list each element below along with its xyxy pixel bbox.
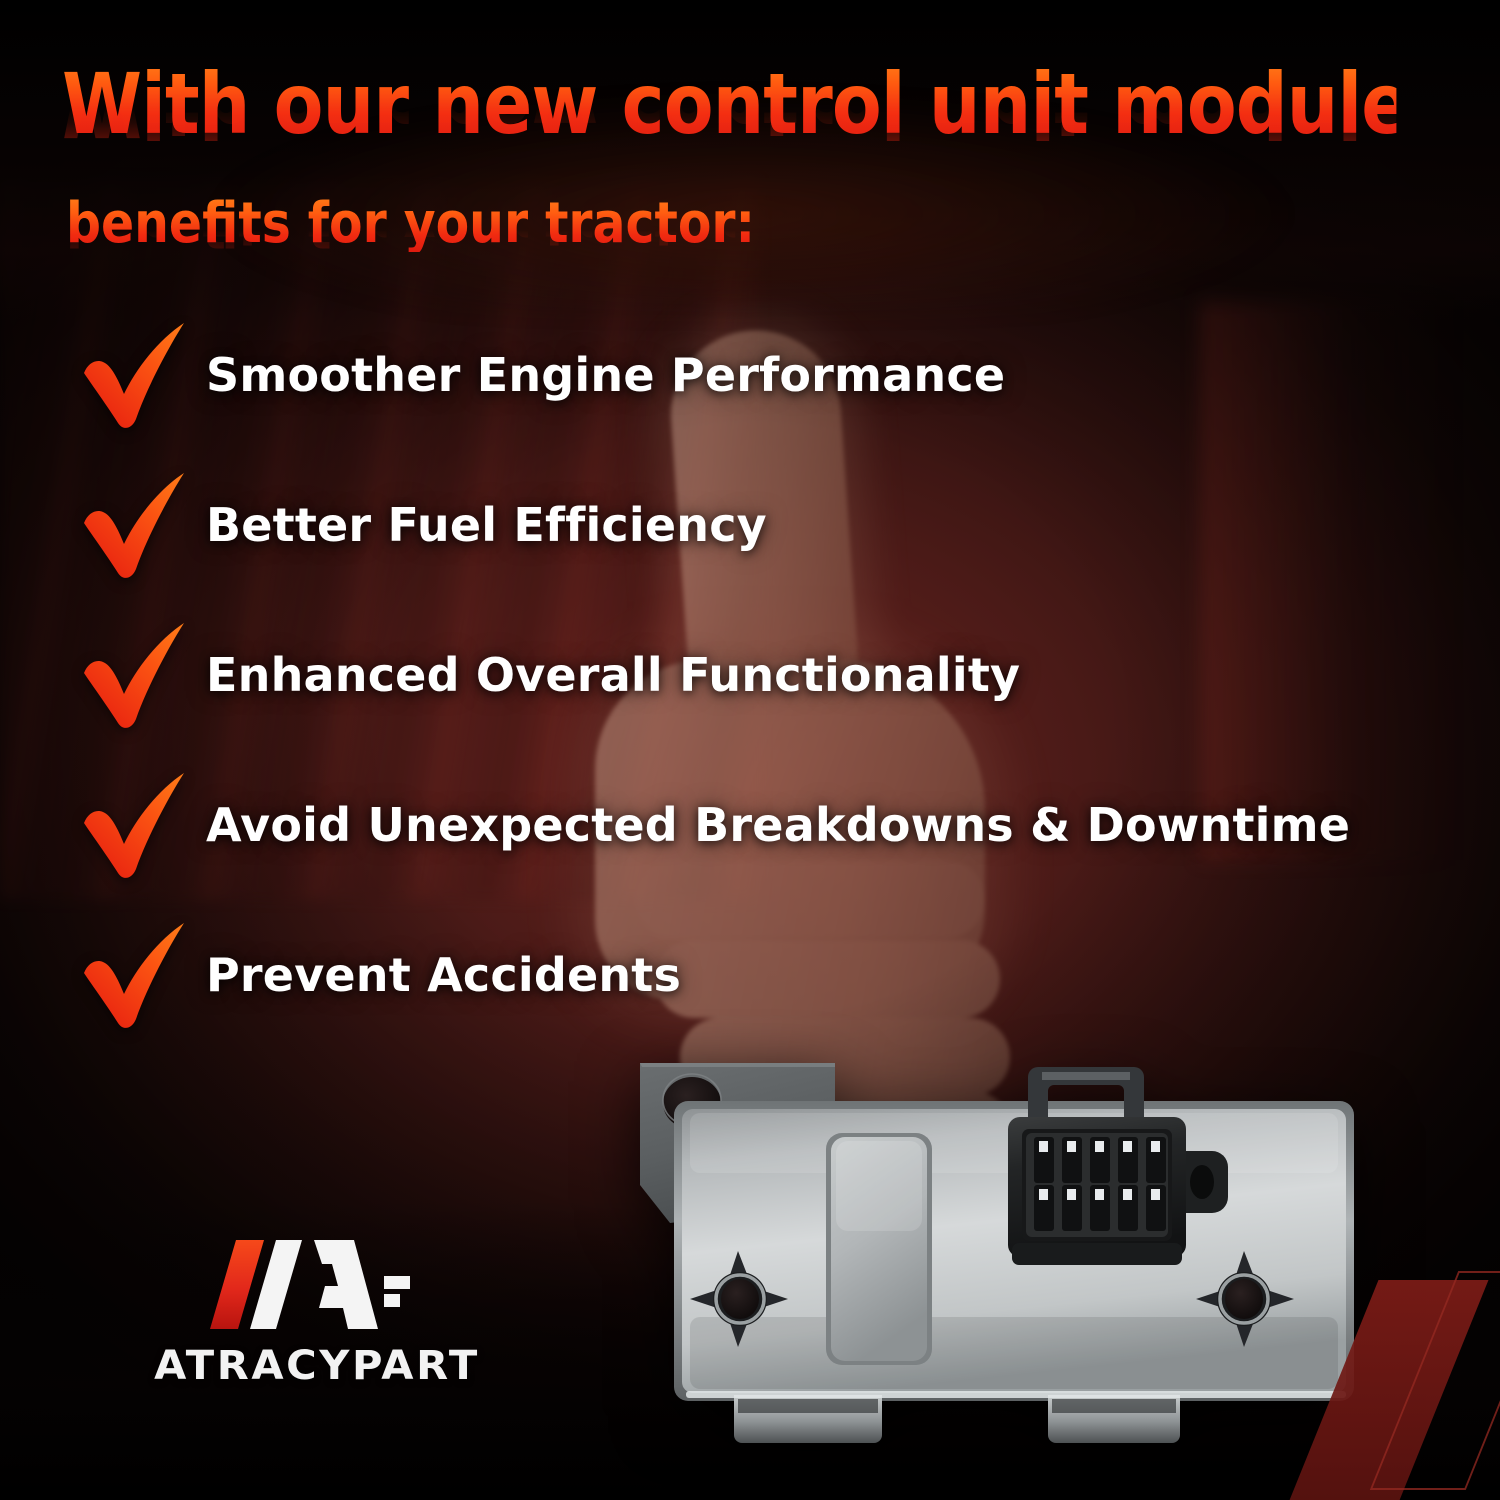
product-raised-pad [826,1133,932,1365]
list-item-label: Enhanced Overall Functionality [206,648,1020,702]
check-icon [78,915,198,1035]
headline-block: With our new control unit module, With o… [62,62,1452,208]
check-icon [78,765,198,885]
benefits-list: Smoother Engine Performance Better Fuel … [78,300,1448,1050]
list-item: Smoother Engine Performance [78,300,1448,450]
a-plus-logo-icon [202,1232,432,1337]
list-item-label: Avoid Unexpected Breakdowns & Downtime [206,798,1350,852]
headline-reflection: With our new control unit module, [62,88,1396,148]
list-item-label: Better Fuel Efficiency [206,498,767,552]
brand-wordmark: ATRACYPART [145,1343,488,1389]
list-item: Better Fuel Efficiency [78,450,1448,600]
list-item: Avoid Unexpected Breakdowns & Downtime [78,750,1448,900]
check-icon [78,615,198,735]
subheadline-reflection: benefits for your tractor: [66,212,755,252]
list-item: Prevent Accidents [78,900,1448,1050]
list-item: Enhanced Overall Functionality [78,600,1448,750]
check-icon [78,465,198,585]
product-image-control-unit-module [630,1055,1400,1465]
brand-logo: ATRACYPART [152,1232,482,1389]
list-item-label: Smoother Engine Performance [206,348,1005,402]
list-item-label: Prevent Accidents [206,948,681,1002]
subheadline-block: benefits for your tractor: benefits for … [66,196,776,292]
infographic-canvas: With our new control unit module, With o… [0,0,1500,1500]
check-icon [78,315,198,435]
